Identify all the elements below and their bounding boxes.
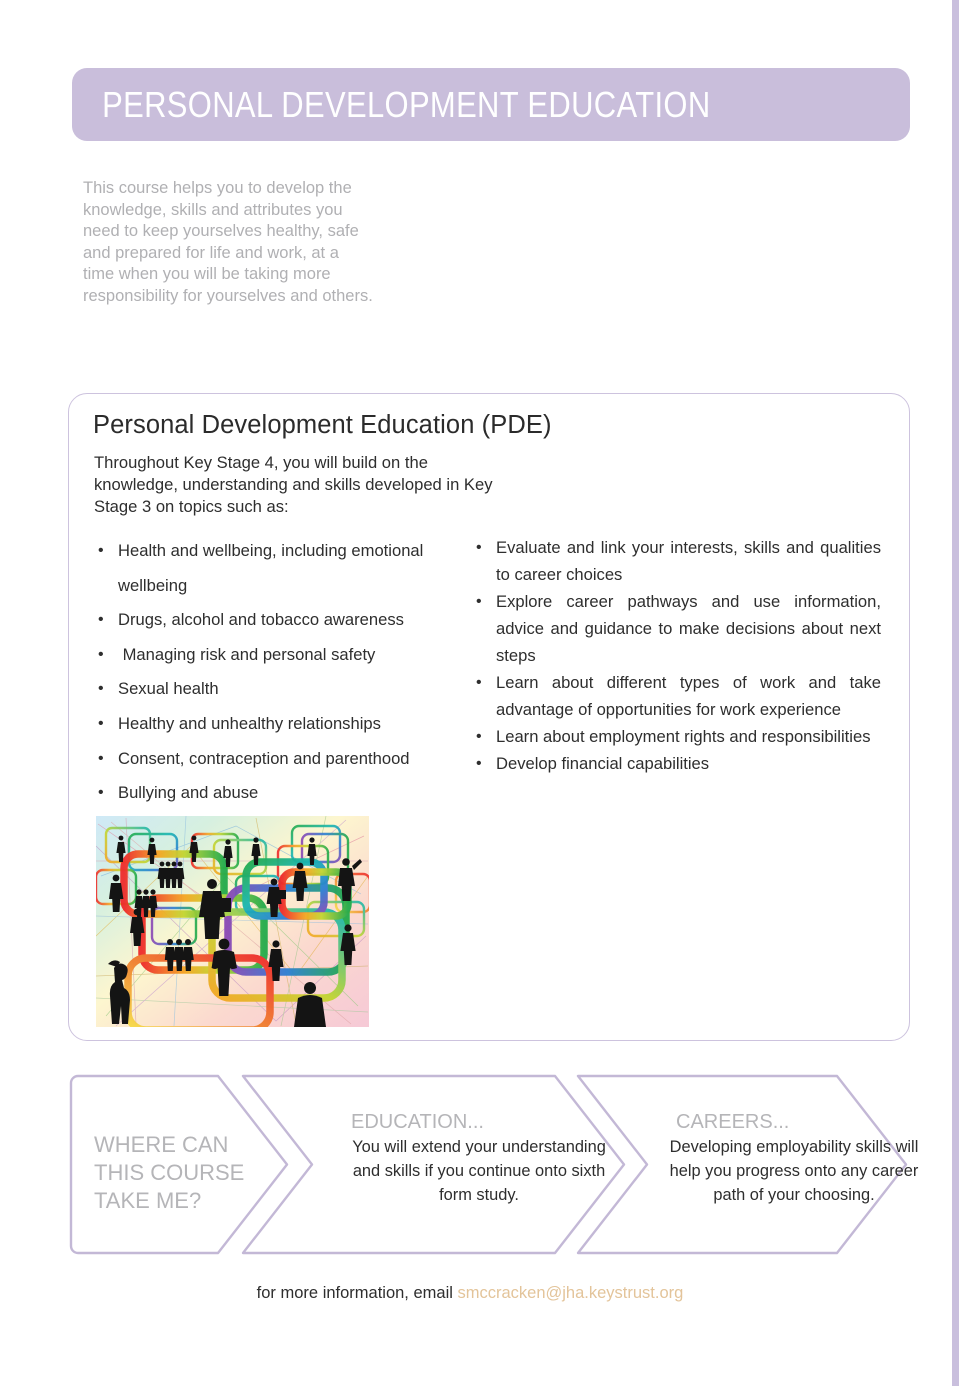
list-item: Health and wellbeing, including emotiona… (91, 534, 461, 603)
list-item: Learn about different types of work and … (469, 669, 881, 723)
intro-block: This course helps you to develop the kno… (83, 178, 373, 308)
pathway-careers-text: Developing employability skills will hel… (668, 1135, 920, 1207)
list-item: Healthy and unhealthy relationships (91, 707, 461, 742)
pathway-prompt-body: WHERE CAN THIS COURSE TAKE ME? (94, 1131, 264, 1215)
people-network-illustration (96, 816, 369, 1027)
footer-email-link[interactable]: smccracken@jha.keystrust.org (458, 1284, 684, 1302)
list-item: Managing risk and personal safety (91, 638, 461, 673)
list-item: Evaluate and link your interests, skills… (469, 534, 881, 588)
pathway-education-text: You will extend your understanding and s… (343, 1135, 615, 1207)
list-item: Bullying and abuse (91, 776, 461, 811)
course-detail-card: Personal Development Education (PDE) Thr… (68, 393, 910, 1041)
page-edge-stripe (952, 0, 959, 1386)
pathway-education-heading: EDUCATION... (351, 1109, 615, 1135)
card-lead-paragraph: Throughout Key Stage 4, you will build o… (94, 452, 494, 518)
card-title: Personal Development Education (PDE) (93, 411, 552, 440)
list-item: Explore career pathways and use informat… (469, 588, 881, 669)
pathway-prompt-text: WHERE CAN THIS COURSE TAKE ME? (94, 1131, 264, 1215)
topics-left-column: Health and wellbeing, including emotiona… (91, 534, 461, 811)
pathway-careers-body: CAREERS... Developing employability skil… (668, 1109, 920, 1207)
topics-left-list: Health and wellbeing, including emotiona… (91, 534, 461, 811)
list-item: Learn about employment rights and respon… (469, 723, 881, 750)
footer-prefix: for more information, email (257, 1284, 458, 1302)
list-item: Sexual health (91, 672, 461, 707)
intro-paragraph: This course helps you to develop the kno… (83, 178, 373, 308)
list-item: Consent, contraception and parenthood (91, 742, 461, 777)
pathway-chevron-row: WHERE CAN THIS COURSE TAKE ME? EDUCATION… (68, 1073, 913, 1256)
footer-contact-line: for more information, email smccracken@j… (0, 1284, 940, 1303)
list-item: Drugs, alcohol and tobacco awareness (91, 603, 461, 638)
pathway-careers-heading: CAREERS... (676, 1109, 920, 1135)
list-item: Develop financial capabilities (469, 750, 881, 777)
pathway-chevron-careers: CAREERS... Developing employability skil… (568, 1073, 913, 1256)
topics-right-column: Evaluate and link your interests, skills… (469, 534, 881, 777)
topics-right-list: Evaluate and link your interests, skills… (469, 534, 881, 777)
pathway-education-body: EDUCATION... You will extend your unders… (343, 1109, 615, 1207)
page-header-banner: PERSONAL DEVELOPMENT EDUCATION (72, 68, 910, 141)
page-title: PERSONAL DEVELOPMENT EDUCATION (72, 84, 711, 126)
